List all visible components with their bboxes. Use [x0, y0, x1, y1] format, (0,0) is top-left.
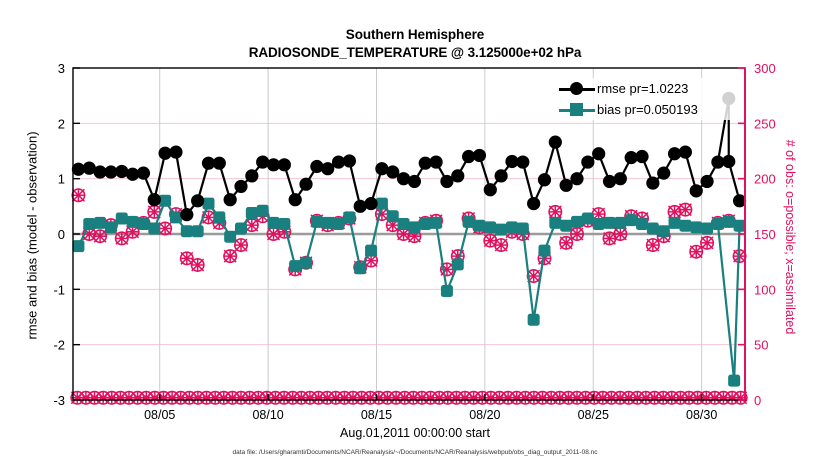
- bias-marker: [365, 245, 377, 257]
- rmse-marker: [364, 197, 377, 210]
- rmse-marker: [234, 180, 247, 193]
- rmse-marker: [722, 92, 735, 105]
- y-axis-right-tick-label: 300: [754, 61, 776, 76]
- bias-marker: [354, 262, 366, 274]
- bias-marker: [538, 245, 550, 257]
- bias-marker: [441, 285, 453, 297]
- y-axis-left-tick-label: 3: [58, 61, 65, 76]
- obs-assimilated-marker: [646, 239, 659, 252]
- rmse-marker: [635, 150, 648, 163]
- y-axis-left-tick-label: 1: [58, 172, 65, 187]
- rmse-marker: [679, 146, 692, 159]
- x-axis-tick-label: 08/05: [144, 408, 175, 422]
- rmse-marker: [570, 172, 583, 185]
- obs-assimilated-marker: [571, 228, 584, 241]
- rmse-marker: [473, 149, 486, 162]
- x-axis-tick-label: 08/25: [578, 408, 609, 422]
- bias-marker: [430, 217, 442, 229]
- bias-marker: [701, 222, 713, 234]
- obs-assimilated-marker: [191, 259, 204, 272]
- y-axis-right-tick-label: 100: [754, 282, 776, 297]
- bias-marker: [387, 210, 399, 222]
- bias-marker: [311, 216, 323, 228]
- bias-marker: [473, 220, 485, 232]
- obs-assimilated-marker: [549, 205, 562, 218]
- bias-marker: [224, 231, 236, 243]
- x-axis-tick-label: 08/10: [252, 408, 283, 422]
- bias-marker: [593, 218, 605, 230]
- rmse-marker: [191, 194, 204, 207]
- bias-marker: [679, 220, 691, 232]
- bias-marker: [549, 217, 561, 229]
- bias-marker: [571, 216, 583, 228]
- bias-marker: [517, 222, 529, 234]
- bias-marker: [728, 375, 740, 387]
- obs-assimilated-marker: [235, 239, 248, 252]
- rmse-marker: [289, 193, 302, 206]
- rmse-marker: [148, 193, 161, 206]
- bias-marker: [614, 217, 626, 229]
- bias-marker: [94, 217, 106, 229]
- rmse-marker: [549, 136, 562, 149]
- bias-marker: [690, 221, 702, 233]
- bias-marker: [647, 222, 659, 234]
- plot-canvas: 3210-1-2-330025020015010050008/0508/1008…: [0, 0, 830, 470]
- obs-assimilated-marker: [224, 250, 237, 263]
- rmse-marker: [224, 193, 237, 206]
- bias-marker: [560, 220, 572, 232]
- bias-marker: [116, 213, 128, 225]
- bias-marker: [235, 222, 247, 234]
- obs-assimilated-marker: [701, 236, 714, 249]
- bias-marker: [625, 214, 637, 226]
- y-axis-right-tick-label: 150: [754, 227, 776, 242]
- chart-figure: Southern Hemisphere RADIOSONDE_TEMPERATU…: [0, 0, 830, 470]
- y-axis-left-tick-label: -1: [53, 282, 65, 297]
- rmse-marker: [538, 173, 551, 186]
- rmse-marker: [657, 167, 670, 180]
- obs-assimilated-marker: [679, 203, 692, 216]
- bias-dip-line: [734, 226, 739, 381]
- obs-assimilated-marker: [560, 236, 573, 249]
- bias-marker: [669, 217, 681, 229]
- rmse-marker: [495, 169, 508, 182]
- bias-marker: [202, 198, 214, 210]
- rmse-marker: [690, 184, 703, 197]
- bias-marker: [343, 211, 355, 223]
- bias-marker: [181, 225, 193, 237]
- bias-marker: [127, 216, 139, 228]
- bias-marker: [322, 217, 334, 229]
- obs-assimilated-marker: [690, 245, 703, 258]
- obs-assimilated-marker: [72, 189, 85, 202]
- rmse-marker: [516, 155, 529, 168]
- x-axis-tick-label: 08/20: [469, 408, 500, 422]
- bias-marker: [528, 314, 540, 326]
- bias-dip-line: [718, 224, 734, 381]
- x-axis-tick-label: 08/30: [686, 408, 717, 422]
- rmse-marker: [137, 167, 150, 180]
- bias-marker: [105, 221, 117, 233]
- bias-marker: [278, 218, 290, 230]
- bias-marker: [159, 195, 171, 207]
- rmse-marker: [429, 155, 442, 168]
- bias-marker: [213, 211, 225, 223]
- y-axis-left-tick-label: -2: [53, 338, 65, 353]
- bias-marker: [376, 198, 388, 210]
- bias-marker: [398, 218, 410, 230]
- rmse-marker: [408, 175, 421, 188]
- rmse-marker: [169, 146, 182, 159]
- bias-marker: [137, 218, 149, 230]
- bias-marker: [723, 216, 735, 228]
- rmse-marker: [700, 175, 713, 188]
- y-axis-left-tick-label: -3: [53, 393, 65, 408]
- rmse-marker: [646, 176, 659, 189]
- bias-marker: [408, 221, 420, 233]
- bias-marker: [170, 211, 182, 223]
- bias-marker: [83, 218, 95, 230]
- bias-marker: [246, 207, 258, 219]
- bias-marker: [192, 225, 204, 237]
- x-axis-tick-label: 08/15: [361, 408, 392, 422]
- y-axis-left-tick-label: 2: [58, 116, 65, 131]
- bias-marker: [289, 260, 301, 272]
- rmse-marker: [581, 155, 594, 168]
- bias-marker: [636, 218, 648, 230]
- rmse-marker: [592, 147, 605, 160]
- bias-marker: [148, 222, 160, 234]
- rmse-marker: [484, 183, 497, 196]
- y-axis-left-tick-label: 0: [58, 227, 65, 242]
- y-axis-right-tick-label: 250: [754, 116, 776, 131]
- obs-assimilated-marker: [614, 228, 627, 241]
- bias-marker: [506, 221, 518, 233]
- bias-marker: [495, 224, 507, 236]
- y-axis-right-tick-label: 0: [754, 393, 761, 408]
- rmse-marker: [245, 169, 258, 182]
- bias-marker: [658, 225, 670, 237]
- bias-marker: [484, 221, 496, 233]
- bias-marker: [300, 257, 312, 269]
- bias-marker: [463, 216, 475, 228]
- bias-marker: [257, 205, 269, 217]
- bias-marker: [333, 218, 345, 230]
- bias-marker: [419, 218, 431, 230]
- bias-marker: [268, 217, 280, 229]
- rmse-marker: [180, 208, 193, 221]
- obs-assimilated-marker: [159, 222, 172, 235]
- rmse-marker: [614, 172, 627, 185]
- bias-marker: [452, 258, 464, 270]
- rmse-marker: [343, 154, 356, 167]
- bias-marker: [604, 217, 616, 229]
- rmse-marker: [527, 197, 540, 210]
- rmse-marker: [310, 160, 323, 173]
- bias-marker: [72, 240, 84, 252]
- rmse-marker: [299, 178, 312, 191]
- bias-marker: [582, 213, 594, 225]
- obs-assimilated-marker: [495, 239, 508, 252]
- y-axis-right-tick-label: 50: [754, 338, 768, 353]
- rmse-marker: [213, 157, 226, 170]
- y-axis-right-tick-label: 200: [754, 172, 776, 187]
- rmse-marker: [451, 169, 464, 182]
- rmse-spike-line: [718, 98, 729, 162]
- rmse-marker: [278, 158, 291, 171]
- obs-assimilated-marker: [94, 230, 107, 243]
